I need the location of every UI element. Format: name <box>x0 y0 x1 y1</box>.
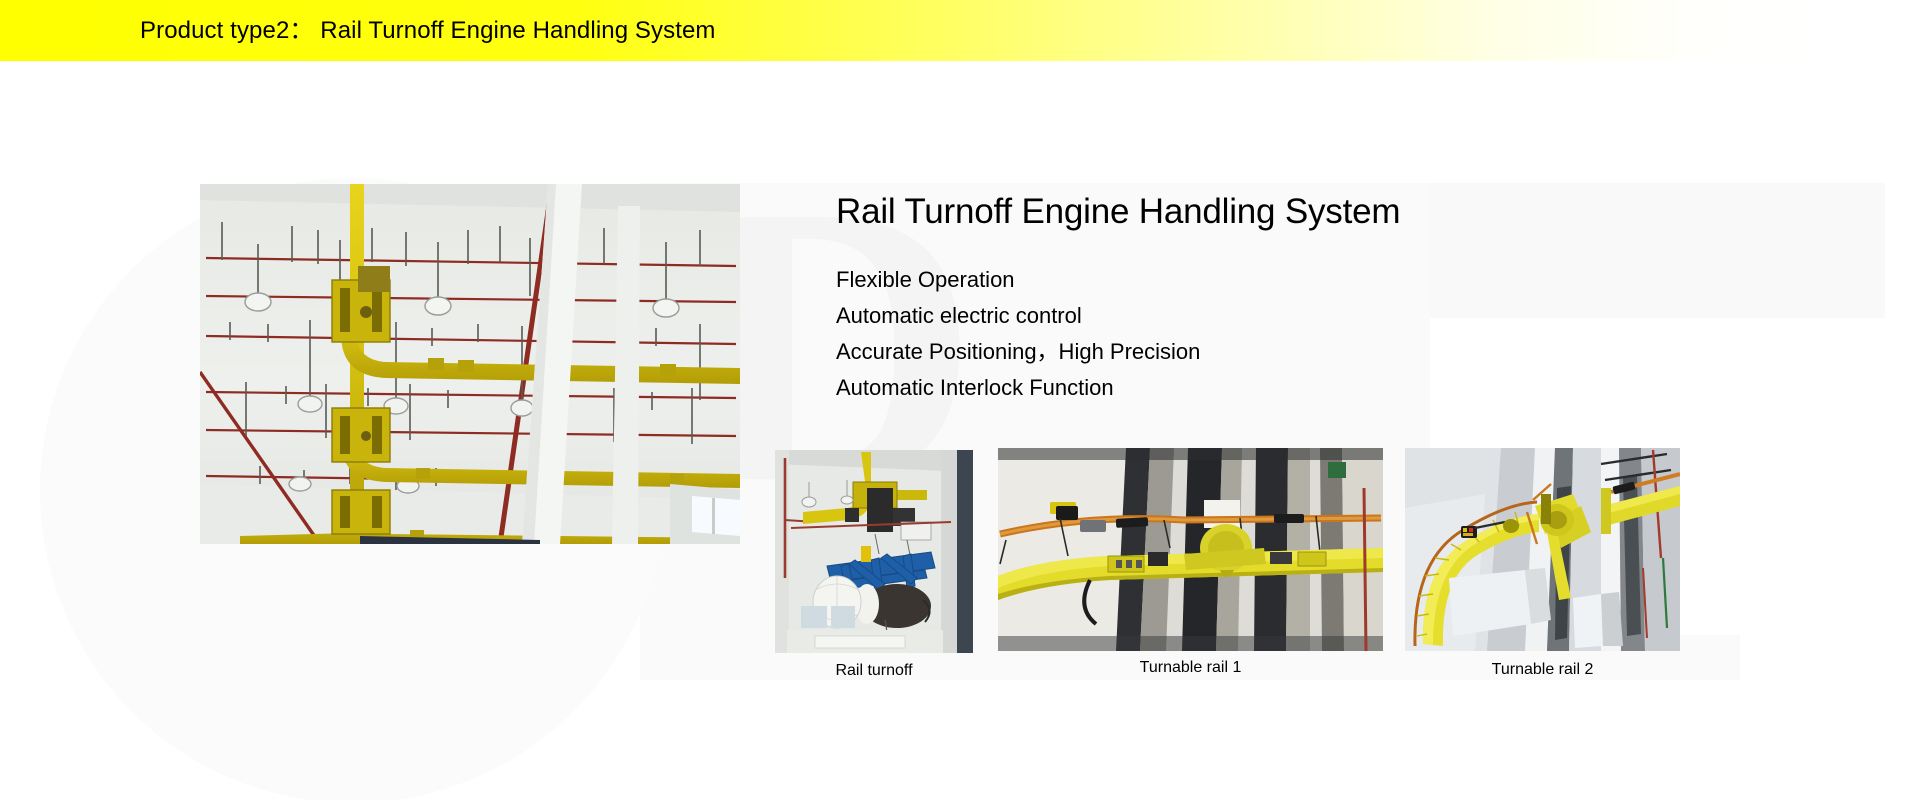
slide-canvas: D Product type2： Rail Turnoff Engine Han… <box>0 0 1920 800</box>
overhead-rail-network-illustration <box>200 184 740 544</box>
feature-item-4: Automatic Interlock Function <box>836 370 1200 406</box>
header-banner: Product type2： Rail Turnoff Engine Handl… <box>0 0 1920 61</box>
turnable-rail-2-illustration <box>1405 448 1680 651</box>
thumbnail-block-rail-turnoff: Rail turnoff <box>775 450 973 653</box>
rail-turnoff-photo <box>775 450 973 653</box>
feature-item-1: Flexible Operation <box>836 262 1200 298</box>
turnable-rail-1-photo <box>998 448 1383 651</box>
feature-item-3: Accurate Positioning，High Precision <box>836 334 1200 370</box>
page-title: Rail Turnoff Engine Handling System <box>836 190 1400 234</box>
turnable-rail-1-illustration <box>998 448 1383 651</box>
thumbnail-caption-turnable-rail-1: Turnable rail 1 <box>998 657 1383 679</box>
turnable-rail-2-photo <box>1405 448 1680 651</box>
feature-list: Flexible Operation Automatic electric co… <box>836 262 1200 406</box>
overhead-rail-network-photo <box>200 184 740 544</box>
thumbnail-block-turnable-rail-1: Turnable rail 1 <box>998 448 1383 651</box>
thumbnail-caption-turnable-rail-2: Turnable rail 2 <box>1405 659 1680 681</box>
thumbnail-caption-rail-turnoff: Rail turnoff <box>775 660 973 682</box>
header-title: Product type2： Rail Turnoff Engine Handl… <box>140 16 716 46</box>
feature-item-2: Automatic electric control <box>836 298 1200 334</box>
rail-turnoff-illustration <box>775 450 973 653</box>
thumbnail-block-turnable-rail-2: Turnable rail 2 <box>1405 448 1680 651</box>
background-panel-right <box>1430 183 1885 318</box>
